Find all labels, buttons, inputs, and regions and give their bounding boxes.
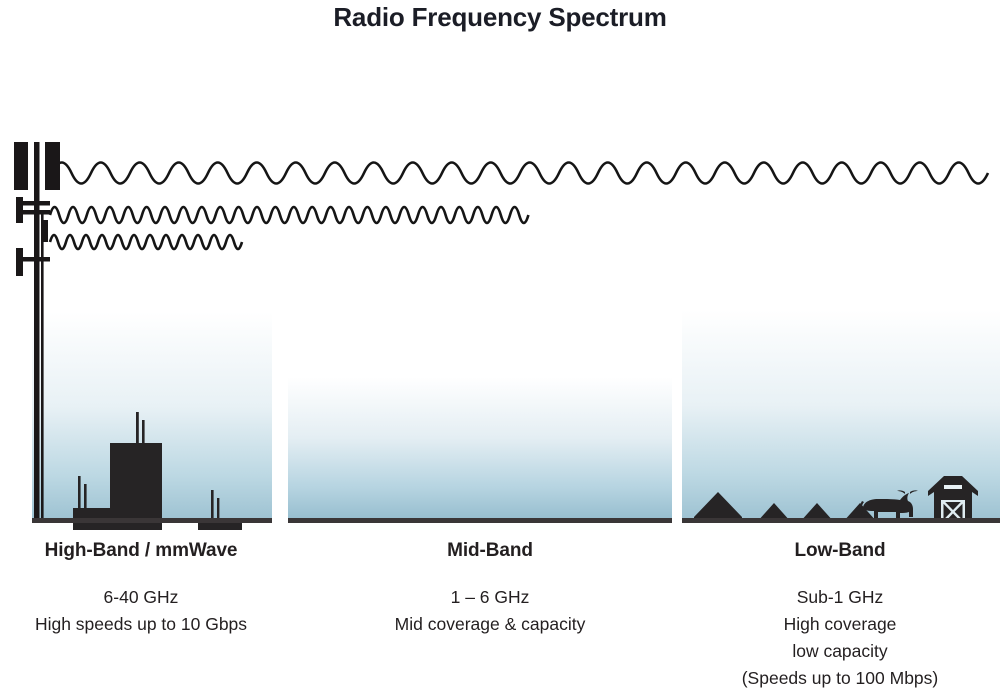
tower-antenna-panel-left <box>14 142 28 190</box>
band-heading-high: High-Band / mmWave <box>0 540 282 562</box>
tower-antenna-panel-right <box>45 142 60 190</box>
tower-antenna-small-lower <box>16 248 23 276</box>
tower-antenna-small-left <box>16 197 23 223</box>
high-frequency-wave <box>50 235 242 249</box>
page-title: Radio Frequency Spectrum <box>0 2 1000 33</box>
band-frequency-mid: 1 – 6 GHz <box>340 584 640 611</box>
band-speed-mid: Mid coverage & capacity <box>340 611 640 638</box>
infographic-root: Radio Frequency Spectrum <box>0 0 1000 700</box>
band-captions: High-Band / mmWave 6-40 GHz High speeds … <box>0 540 1000 700</box>
sky-panel-mid-band <box>288 377 672 522</box>
tower-crossbar-upper <box>22 201 50 206</box>
skyscraper-center-spire-short <box>142 420 145 445</box>
caption-mid-band: Mid-Band 1 – 6 GHz Mid coverage & capaci… <box>340 540 640 638</box>
band-speed-low: (Speeds up to 100 Mbps) <box>680 665 1000 692</box>
tower-mast <box>34 142 40 522</box>
spectrum-svg <box>0 120 1000 530</box>
band-speed-high: High speeds up to 10 Gbps <box>0 611 282 638</box>
skyscraper-left-spire-tall <box>78 476 81 510</box>
radio-waves <box>50 163 988 250</box>
band-coverage-low: High coverage <box>680 611 1000 638</box>
band-capacity-low: low capacity <box>680 638 1000 665</box>
low-frequency-wave <box>52 163 988 184</box>
tower-crossbar-lower <box>22 257 50 262</box>
caption-high-band: High-Band / mmWave 6-40 GHz High speeds … <box>0 540 282 638</box>
tower-antenna-small-mid <box>42 220 48 242</box>
skyscraper-center-body <box>110 443 162 530</box>
ground-line <box>32 518 1000 523</box>
skyscraper-center-spire-tall <box>136 412 139 445</box>
band-heading-low: Low-Band <box>680 540 1000 562</box>
skyscraper-left-spire-short <box>84 484 87 510</box>
ground-low-band <box>682 518 1000 523</box>
ground-high-band <box>32 518 272 523</box>
ground-mid-band <box>288 518 672 523</box>
mid-frequency-wave <box>50 207 528 223</box>
band-heading-mid: Mid-Band <box>340 540 640 562</box>
band-frequency-high: 6-40 GHz <box>0 584 282 611</box>
spectrum-illustration <box>0 120 1000 530</box>
sky-panels <box>32 310 1000 522</box>
tower-crossbar-upper2 <box>22 210 50 215</box>
barn-hayloft-vent <box>944 485 962 489</box>
tower-mast-secondary <box>41 210 44 522</box>
band-frequency-low: Sub-1 GHz <box>680 584 1000 611</box>
caption-low-band: Low-Band Sub-1 GHz High coverage low cap… <box>680 540 1000 692</box>
